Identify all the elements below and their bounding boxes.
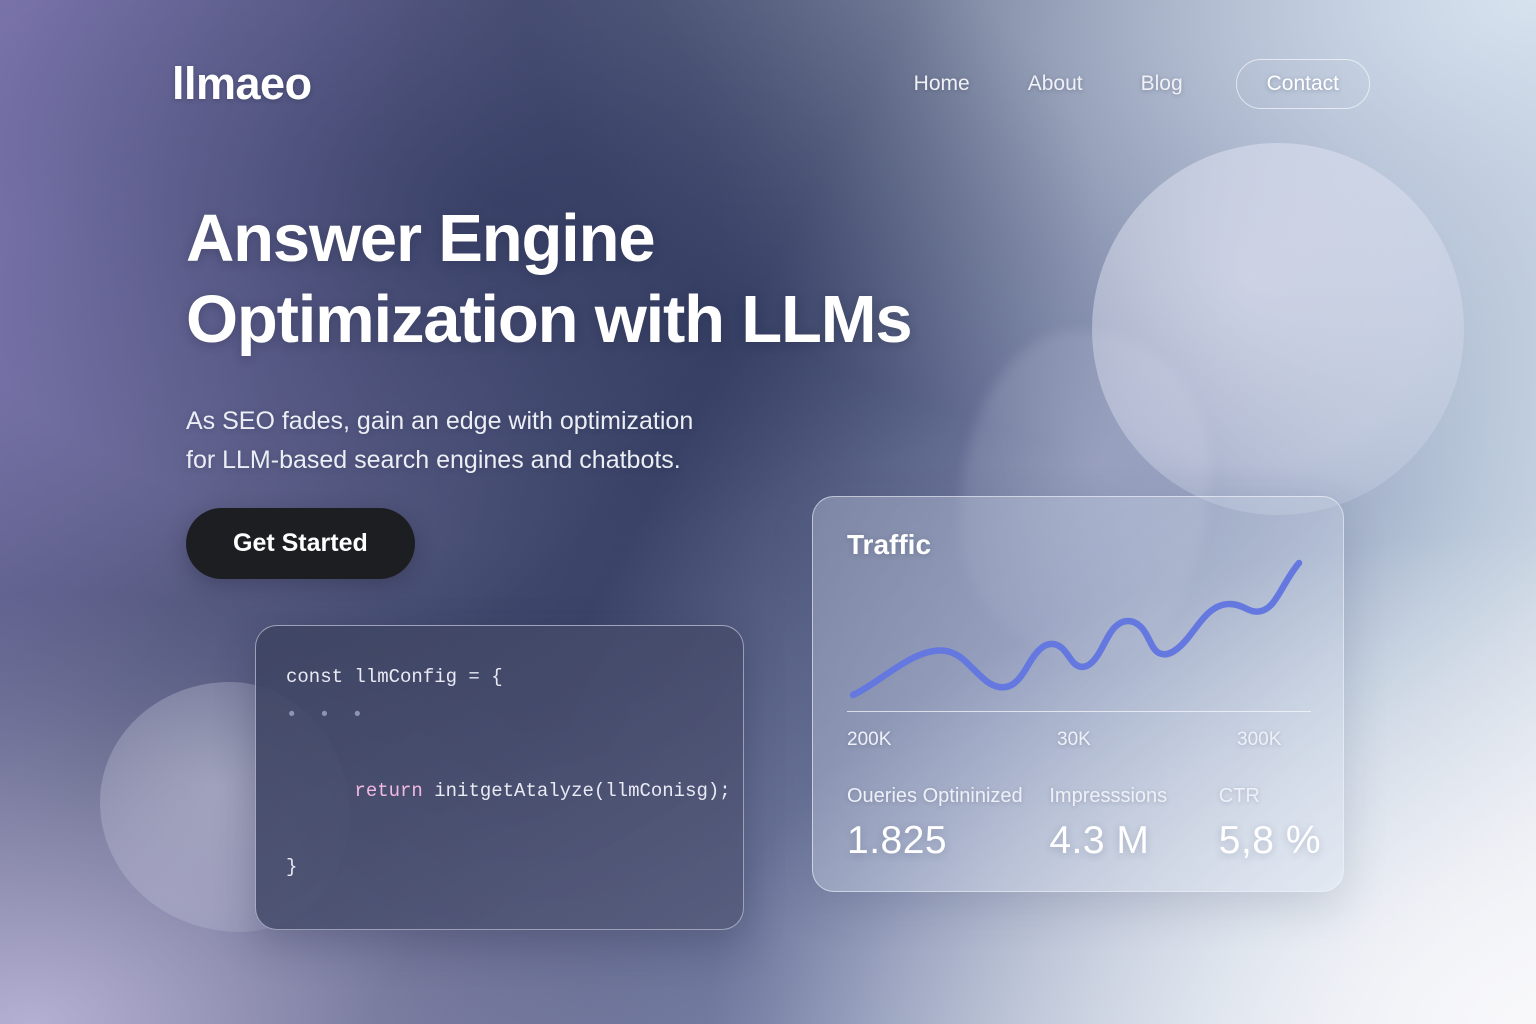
axis-label-2: 30K xyxy=(1057,729,1237,751)
traffic-card: Traffic 200K 30K 300K Oueries Optininize… xyxy=(812,496,1344,892)
stat-value: 4.3 M xyxy=(1049,819,1218,863)
stat-queries-optimized: Oueries Optininized 1.825 xyxy=(847,785,1049,863)
subhead-line-2: for LLM-based search engines and chatbot… xyxy=(186,446,681,474)
chart-axis-labels: 200K 30K 300K xyxy=(847,729,1311,751)
code-ellipsis: • • • xyxy=(286,696,713,734)
brand-logo[interactable]: llmaeo xyxy=(172,58,312,110)
stat-label: Oueries Optininized xyxy=(847,785,1049,808)
code-line-1: const llmConfig = { xyxy=(286,658,713,696)
headline-line-2: Optimization with LLMs xyxy=(186,282,911,357)
get-started-button[interactable]: Get Started xyxy=(186,508,415,579)
traffic-line-chart xyxy=(847,549,1311,709)
site-header: llmaeo Home About Blog Contact xyxy=(0,0,1536,168)
code-line-6: return response from xyxy=(286,914,713,930)
page-title: Answer Engine Optimization with LLMs xyxy=(186,198,1006,360)
headline-line-1: Answer Engine xyxy=(186,201,654,276)
traffic-chart-line xyxy=(853,563,1299,695)
axis-label-1: 200K xyxy=(847,729,1057,751)
nav-item-home[interactable]: Home xyxy=(885,72,999,96)
main-navigation: Home About Blog Contact xyxy=(885,59,1370,109)
code-line-3-rest: initgetAtalyze(llmConisg); xyxy=(423,780,731,802)
subhead-line-1: As SEO fades, gain an edge with optimiza… xyxy=(186,407,693,435)
nav-item-blog[interactable]: Blog xyxy=(1112,72,1212,96)
stat-value: 5,8 % xyxy=(1219,819,1321,863)
code-line-4: } xyxy=(286,848,713,886)
code-line-3: return initgetAtalyze(llmConisg); xyxy=(286,734,713,848)
traffic-chart-svg xyxy=(847,549,1311,709)
code-blank-line xyxy=(286,886,713,914)
axis-label-3: 300K xyxy=(1237,729,1281,751)
stat-impressions: Impresssions 4.3 M xyxy=(1049,785,1218,863)
nav-contact-button[interactable]: Contact xyxy=(1236,59,1370,109)
nav-item-about[interactable]: About xyxy=(999,72,1112,96)
traffic-card-divider xyxy=(847,711,1311,712)
stat-value: 1.825 xyxy=(847,819,1049,863)
traffic-stats-row: Oueries Optininized 1.825 Impresssions 4… xyxy=(847,785,1321,863)
hero-subheading: As SEO fades, gain an edge with optimiza… xyxy=(186,402,1006,481)
stat-label: Impresssions xyxy=(1049,785,1218,808)
stat-ctr: CTR 5,8 % xyxy=(1219,785,1321,863)
code-snippet-card: const llmConfig = { • • • return initget… xyxy=(255,625,744,930)
hero-section: Answer Engine Optimization with LLMs As … xyxy=(186,198,1006,481)
code-keyword-return-1: return xyxy=(354,780,422,802)
stat-label: CTR xyxy=(1219,785,1321,808)
